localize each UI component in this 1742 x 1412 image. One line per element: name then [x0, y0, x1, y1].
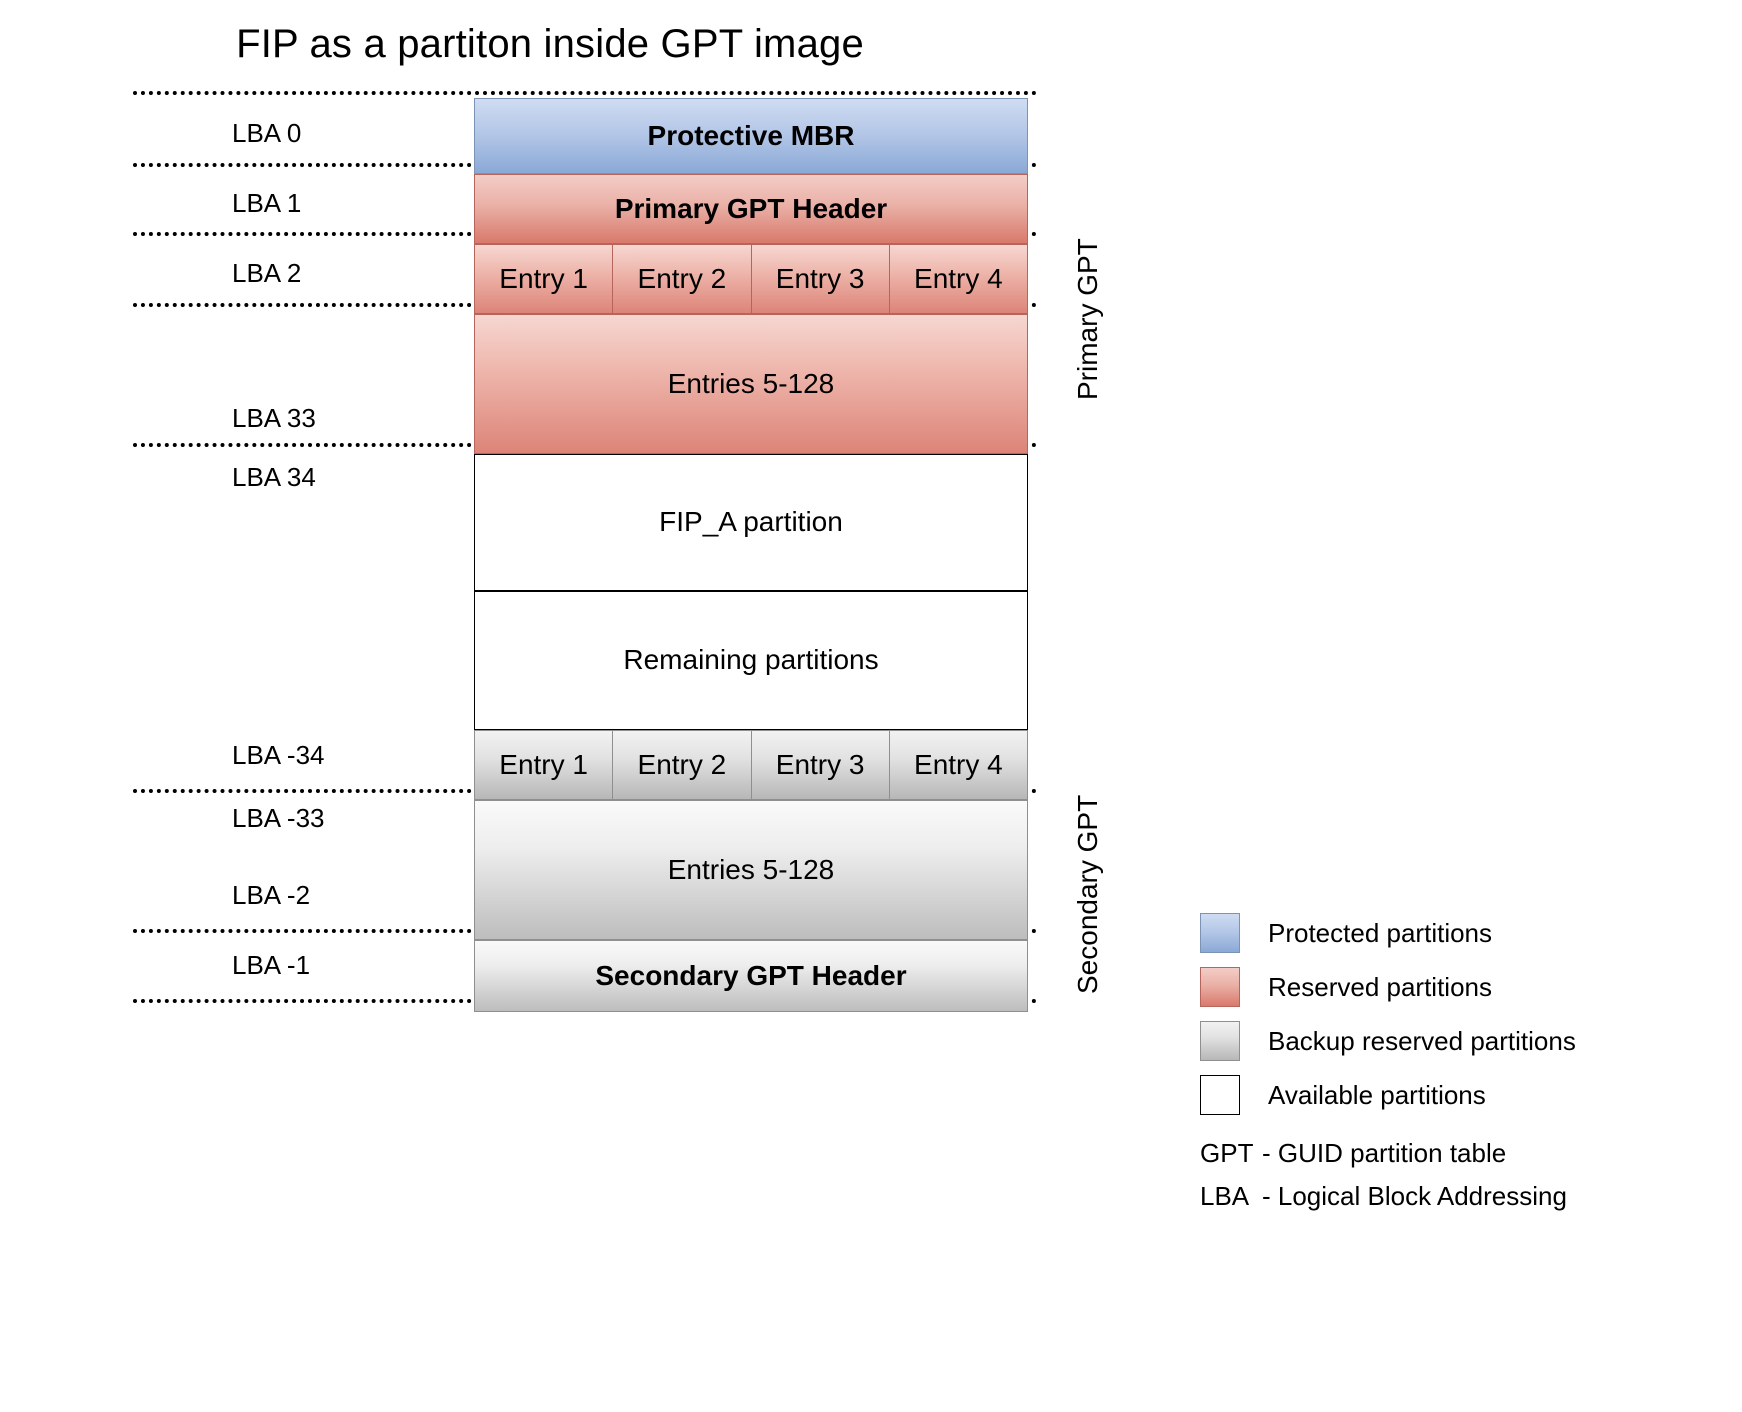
- band-label: Entries 5-128: [668, 855, 835, 886]
- legend-label: Available partitions: [1268, 1080, 1486, 1111]
- guide-line: [133, 91, 1037, 95]
- band-secondary-entries-5-128: Entries 5-128: [474, 800, 1028, 940]
- lba-label: LBA 1: [232, 188, 301, 219]
- band-primary-entries-1-4: Entry 1Entry 2Entry 3Entry 4: [474, 244, 1028, 314]
- abbreviation-key: GPT: [1200, 1138, 1262, 1169]
- legend: Protected partitionsReserved partitionsB…: [1200, 908, 1620, 1124]
- legend-label: Backup reserved partitions: [1268, 1026, 1576, 1057]
- legend-row: Backup reserved partitions: [1200, 1016, 1620, 1066]
- diagram-canvas: FIP as a partiton inside GPT image LBA 0…: [0, 0, 1742, 1412]
- side-label-primary-gpt: Primary GPT: [1072, 238, 1104, 400]
- entry-row: Entry 1Entry 2Entry 3Entry 4: [475, 731, 1027, 799]
- band-protective-mbr: Protective MBR: [474, 98, 1028, 174]
- entry-cell: Entry 1: [475, 245, 612, 313]
- entry-cell: Entry 2: [612, 731, 750, 799]
- band-label: Primary GPT Header: [615, 194, 887, 225]
- band-primary-gpt-header: Primary GPT Header: [474, 174, 1028, 244]
- legend-swatch-reserved-partitions: [1200, 967, 1240, 1007]
- page-title: FIP as a partiton inside GPT image: [0, 22, 1100, 67]
- entry-cell: Entry 3: [751, 731, 889, 799]
- lba-label: LBA -1: [232, 950, 310, 981]
- lba-label: LBA -34: [232, 740, 325, 771]
- abbreviation-row: LBA- Logical Block Addressing: [1200, 1181, 1567, 1212]
- band-fip-a-partition: FIP_A partition: [474, 454, 1028, 591]
- legend-label: Protected partitions: [1268, 918, 1492, 949]
- lba-label: LBA 34: [232, 462, 316, 493]
- abbreviation-list: GPT- GUID partition tableLBA- Logical Bl…: [1200, 1138, 1567, 1224]
- band-secondary-gpt-header: Secondary GPT Header: [474, 940, 1028, 1012]
- band-primary-entries-5-128: Entries 5-128: [474, 314, 1028, 454]
- entry-cell: Entry 3: [751, 245, 889, 313]
- lba-label: LBA -2: [232, 880, 310, 911]
- abbreviation-value: - Logical Block Addressing: [1262, 1181, 1567, 1212]
- side-label-secondary-gpt: Secondary GPT: [1072, 795, 1104, 994]
- band-label: FIP_A partition: [659, 507, 843, 538]
- lba-label: LBA -33: [232, 803, 325, 834]
- legend-swatch-backup-reserved-partitions: [1200, 1021, 1240, 1061]
- lba-label: LBA 33: [232, 403, 316, 434]
- legend-swatch-available-partitions: [1200, 1075, 1240, 1115]
- band-label: Secondary GPT Header: [595, 961, 906, 992]
- band-secondary-entries-1-4: Entry 1Entry 2Entry 3Entry 4: [474, 730, 1028, 800]
- legend-row: Reserved partitions: [1200, 962, 1620, 1012]
- band-remaining-partitions: Remaining partitions: [474, 591, 1028, 730]
- lba-label: LBA 0: [232, 118, 301, 149]
- legend-row: Protected partitions: [1200, 908, 1620, 958]
- band-label: Protective MBR: [648, 121, 855, 152]
- entry-cell: Entry 4: [889, 731, 1027, 799]
- band-label: Entries 5-128: [668, 369, 835, 400]
- abbreviation-key: LBA: [1200, 1181, 1262, 1212]
- entry-cell: Entry 2: [612, 245, 750, 313]
- gpt-layout-stack: Protective MBRPrimary GPT HeaderEntry 1E…: [474, 98, 1028, 1012]
- entry-cell: Entry 4: [889, 245, 1027, 313]
- entry-row: Entry 1Entry 2Entry 3Entry 4: [475, 245, 1027, 313]
- band-label: Remaining partitions: [623, 645, 878, 676]
- lba-label: LBA 2: [232, 258, 301, 289]
- abbreviation-value: - GUID partition table: [1262, 1138, 1506, 1169]
- entry-cell: Entry 1: [475, 731, 612, 799]
- abbreviation-row: GPT- GUID partition table: [1200, 1138, 1567, 1169]
- legend-label: Reserved partitions: [1268, 972, 1492, 1003]
- legend-swatch-protected-partitions: [1200, 913, 1240, 953]
- legend-row: Available partitions: [1200, 1070, 1620, 1120]
